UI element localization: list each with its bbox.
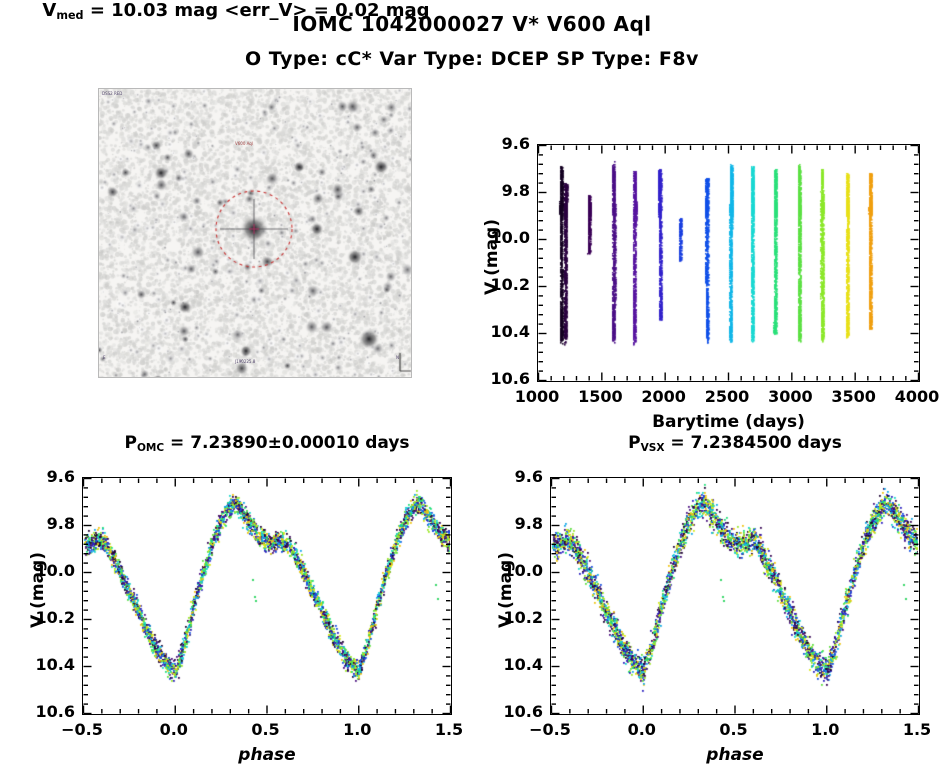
xtick-label: 0.0: [607, 720, 677, 739]
ytick-label: 9.8: [29, 514, 75, 533]
lightcurve-ylabel: V (mag): [482, 197, 502, 317]
phase-vsx-title-value: = 7.2384500 days: [664, 433, 841, 453]
ytick-label: 10.6: [29, 702, 75, 721]
ytick-label: 9.8: [497, 514, 543, 533]
phase-omc-tickmarks: [82, 477, 452, 715]
sky-annotation-east: E: [103, 355, 106, 360]
sky-image-frame: DSS2 RED V600 Aql J190225.8 E N: [98, 88, 412, 378]
xtick-label: 4000: [882, 387, 944, 406]
xtick-label: 1.5: [882, 720, 944, 739]
xtick-label: 1.0: [790, 720, 860, 739]
xtick-label: 1000: [502, 387, 572, 406]
sky-annotation-bottom-center: J190225.8: [235, 359, 255, 364]
sky-annotation-north: N: [396, 355, 399, 360]
ytick-label: 9.8: [484, 181, 530, 200]
phase-vsx-title-subscript: VSX: [641, 442, 665, 454]
ytick-label: 10.0: [484, 228, 530, 247]
xtick-label: −0.5: [47, 720, 117, 739]
object-types-line: O Type: cC* Var Type: DCEP SP Type: F8v: [0, 48, 944, 70]
lightcurve-xlabel: Barytime (days): [537, 412, 920, 432]
xtick-label: 1500: [565, 387, 635, 406]
xtick-label: 3500: [819, 387, 889, 406]
sky-annotation-top-left: DSS2 RED: [102, 91, 122, 96]
phase-vsx-xlabel: phase: [550, 745, 920, 765]
finding-chart-panel: DSS2 RED V600 Aql J190225.8 E N: [98, 88, 412, 378]
phase-omc-title-value: = 7.23890±0.00010 days: [164, 433, 409, 453]
phase-vsx-tickmarks: [550, 477, 920, 715]
sky-annotation-target-label: V600 Aql: [235, 141, 253, 146]
xtick-label: 3000: [755, 387, 825, 406]
phase-omc-title: POMC = 7.23890±0.00010 days: [82, 433, 452, 454]
page-title: IOMC 1042000027 V* V600 Aql: [0, 12, 944, 36]
xtick-label: 2500: [692, 387, 762, 406]
ytick-label: 10.4: [29, 655, 75, 674]
xtick-label: 1.5: [414, 720, 484, 739]
xtick-label: 0.5: [699, 720, 769, 739]
phase-omc-title-subscript: OMC: [137, 442, 164, 454]
ytick-label: 10.0: [29, 561, 75, 580]
phase-vsx-ylabel: V (mag): [496, 530, 516, 650]
ytick-label: 10.4: [497, 655, 543, 674]
xtick-label: −0.5: [515, 720, 585, 739]
ytick-label: 10.2: [29, 608, 75, 627]
phase-vsx-title: PVSX = 7.2384500 days: [550, 433, 920, 454]
xtick-label: 2000: [629, 387, 699, 406]
ytick-label: 9.6: [497, 467, 543, 486]
xtick-label: 0.0: [139, 720, 209, 739]
phase-omc-ylabel: V (mag): [28, 530, 48, 650]
phase-vsx-title-symbol: P: [628, 433, 640, 453]
ytick-label: 10.0: [497, 561, 543, 580]
dss-sky-image: [99, 89, 412, 378]
ytick-label: 10.4: [484, 322, 530, 341]
phase-omc-title-symbol: P: [124, 433, 136, 453]
xtick-label: 1.0: [322, 720, 392, 739]
ytick-label: 10.6: [484, 369, 530, 388]
lightcurve-tickmarks: [537, 144, 920, 382]
xtick-label: 0.5: [231, 720, 301, 739]
phase-omc-xlabel: phase: [82, 745, 452, 765]
ytick-label: 9.6: [29, 467, 75, 486]
ytick-label: 10.2: [497, 608, 543, 627]
ytick-label: 9.6: [484, 134, 530, 153]
ytick-label: 10.2: [484, 275, 530, 294]
ytick-label: 10.6: [497, 702, 543, 721]
